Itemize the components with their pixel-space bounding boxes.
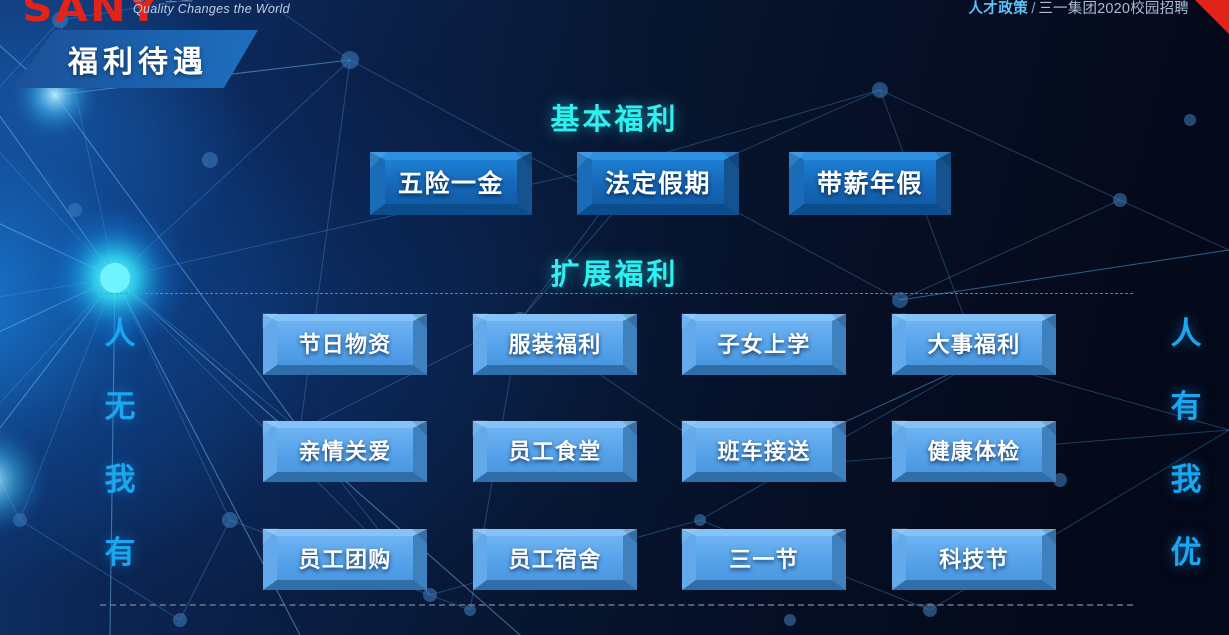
benefit-label: 法定假期 <box>605 164 711 200</box>
slide-canvas: SANY 三一重工 Quality Changes the World 人才政策… <box>0 0 1229 635</box>
benefit-label: 三一节 <box>729 542 799 574</box>
slogan-left: 人 无 我 有 <box>98 318 142 610</box>
benefit-plate-ext-2-0[interactable]: 员工团购 <box>263 529 427 590</box>
divider-dashed-bottom <box>100 604 1133 606</box>
slogan-left-char: 有 <box>105 537 136 568</box>
benefit-label: 五险一金 <box>398 164 504 200</box>
benefit-label: 班车接送 <box>718 434 811 466</box>
breadcrumb-separator: / <box>1031 1 1035 17</box>
divider-dashed-top <box>100 293 1133 294</box>
benefit-plate-ext-1-1[interactable]: 员工食堂 <box>473 421 637 482</box>
benefit-label: 员工团购 <box>299 542 392 574</box>
benefit-label: 子女上学 <box>718 327 811 359</box>
benefit-label: 科技节 <box>939 542 1009 574</box>
benefit-plate-ext-1-0[interactable]: 亲情关爱 <box>263 421 427 482</box>
benefit-plate-ext-2-3[interactable]: 科技节 <box>892 529 1056 590</box>
benefit-plate-ext-0-2[interactable]: 子女上学 <box>682 314 846 375</box>
benefit-plate-ext-0-1[interactable]: 服装福利 <box>473 314 637 375</box>
benefit-plate-ext-2-2[interactable]: 三一节 <box>682 529 846 590</box>
benefit-label: 员工宿舍 <box>509 542 602 574</box>
benefit-label: 带薪年假 <box>817 164 923 200</box>
benefit-plate-ext-1-2[interactable]: 班车接送 <box>682 421 846 482</box>
benefit-plate-ext-0-0[interactable]: 节日物资 <box>263 314 427 375</box>
benefit-label: 服装福利 <box>509 327 602 359</box>
slogan-right-char: 优 <box>1171 537 1202 568</box>
benefit-plate-basic-0[interactable]: 五险一金 <box>370 152 532 215</box>
section-title-banner: 福利待遇 <box>14 30 258 88</box>
slogan-right-char: 有 <box>1171 391 1202 422</box>
benefit-plate-ext-1-3[interactable]: 健康体检 <box>892 421 1056 482</box>
slogan-left-char: 我 <box>105 464 136 495</box>
benefit-plate-basic-1[interactable]: 法定假期 <box>577 152 739 215</box>
page-title: 福利待遇 <box>64 37 208 81</box>
benefit-plate-basic-2[interactable]: 带薪年假 <box>789 152 951 215</box>
breadcrumb: 人才政策/三一集团2020校园招聘 <box>968 0 1189 18</box>
top-bar: SANY 三一重工 Quality Changes the World 人才政策… <box>0 0 1229 26</box>
slogan-right-char: 人 <box>1171 318 1202 349</box>
slogan-right: 人 有 我 优 <box>1164 318 1208 610</box>
heading-basic-benefits: 基本福利 <box>0 96 1229 138</box>
slogan-left-char: 无 <box>105 391 136 422</box>
slogan-left-char: 人 <box>105 318 136 349</box>
slogan-right-char: 我 <box>1171 464 1202 495</box>
breadcrumb-secondary: 三一集团2020校园招聘 <box>1038 1 1189 17</box>
heading-extended-benefits: 扩展福利 <box>0 251 1229 293</box>
corner-triangle-accent <box>1195 0 1229 34</box>
benefit-label: 亲情关爱 <box>299 434 392 466</box>
benefit-label: 员工食堂 <box>509 434 602 466</box>
benefit-plate-ext-2-1[interactable]: 员工宿舍 <box>473 529 637 590</box>
logo-tagline: Quality Changes the World <box>133 2 290 16</box>
benefit-label: 节日物资 <box>299 327 392 359</box>
benefit-plate-ext-0-3[interactable]: 大事福利 <box>892 314 1056 375</box>
benefit-label: 健康体检 <box>928 434 1021 466</box>
benefit-label: 大事福利 <box>928 327 1021 359</box>
breadcrumb-primary: 人才政策 <box>968 1 1028 17</box>
